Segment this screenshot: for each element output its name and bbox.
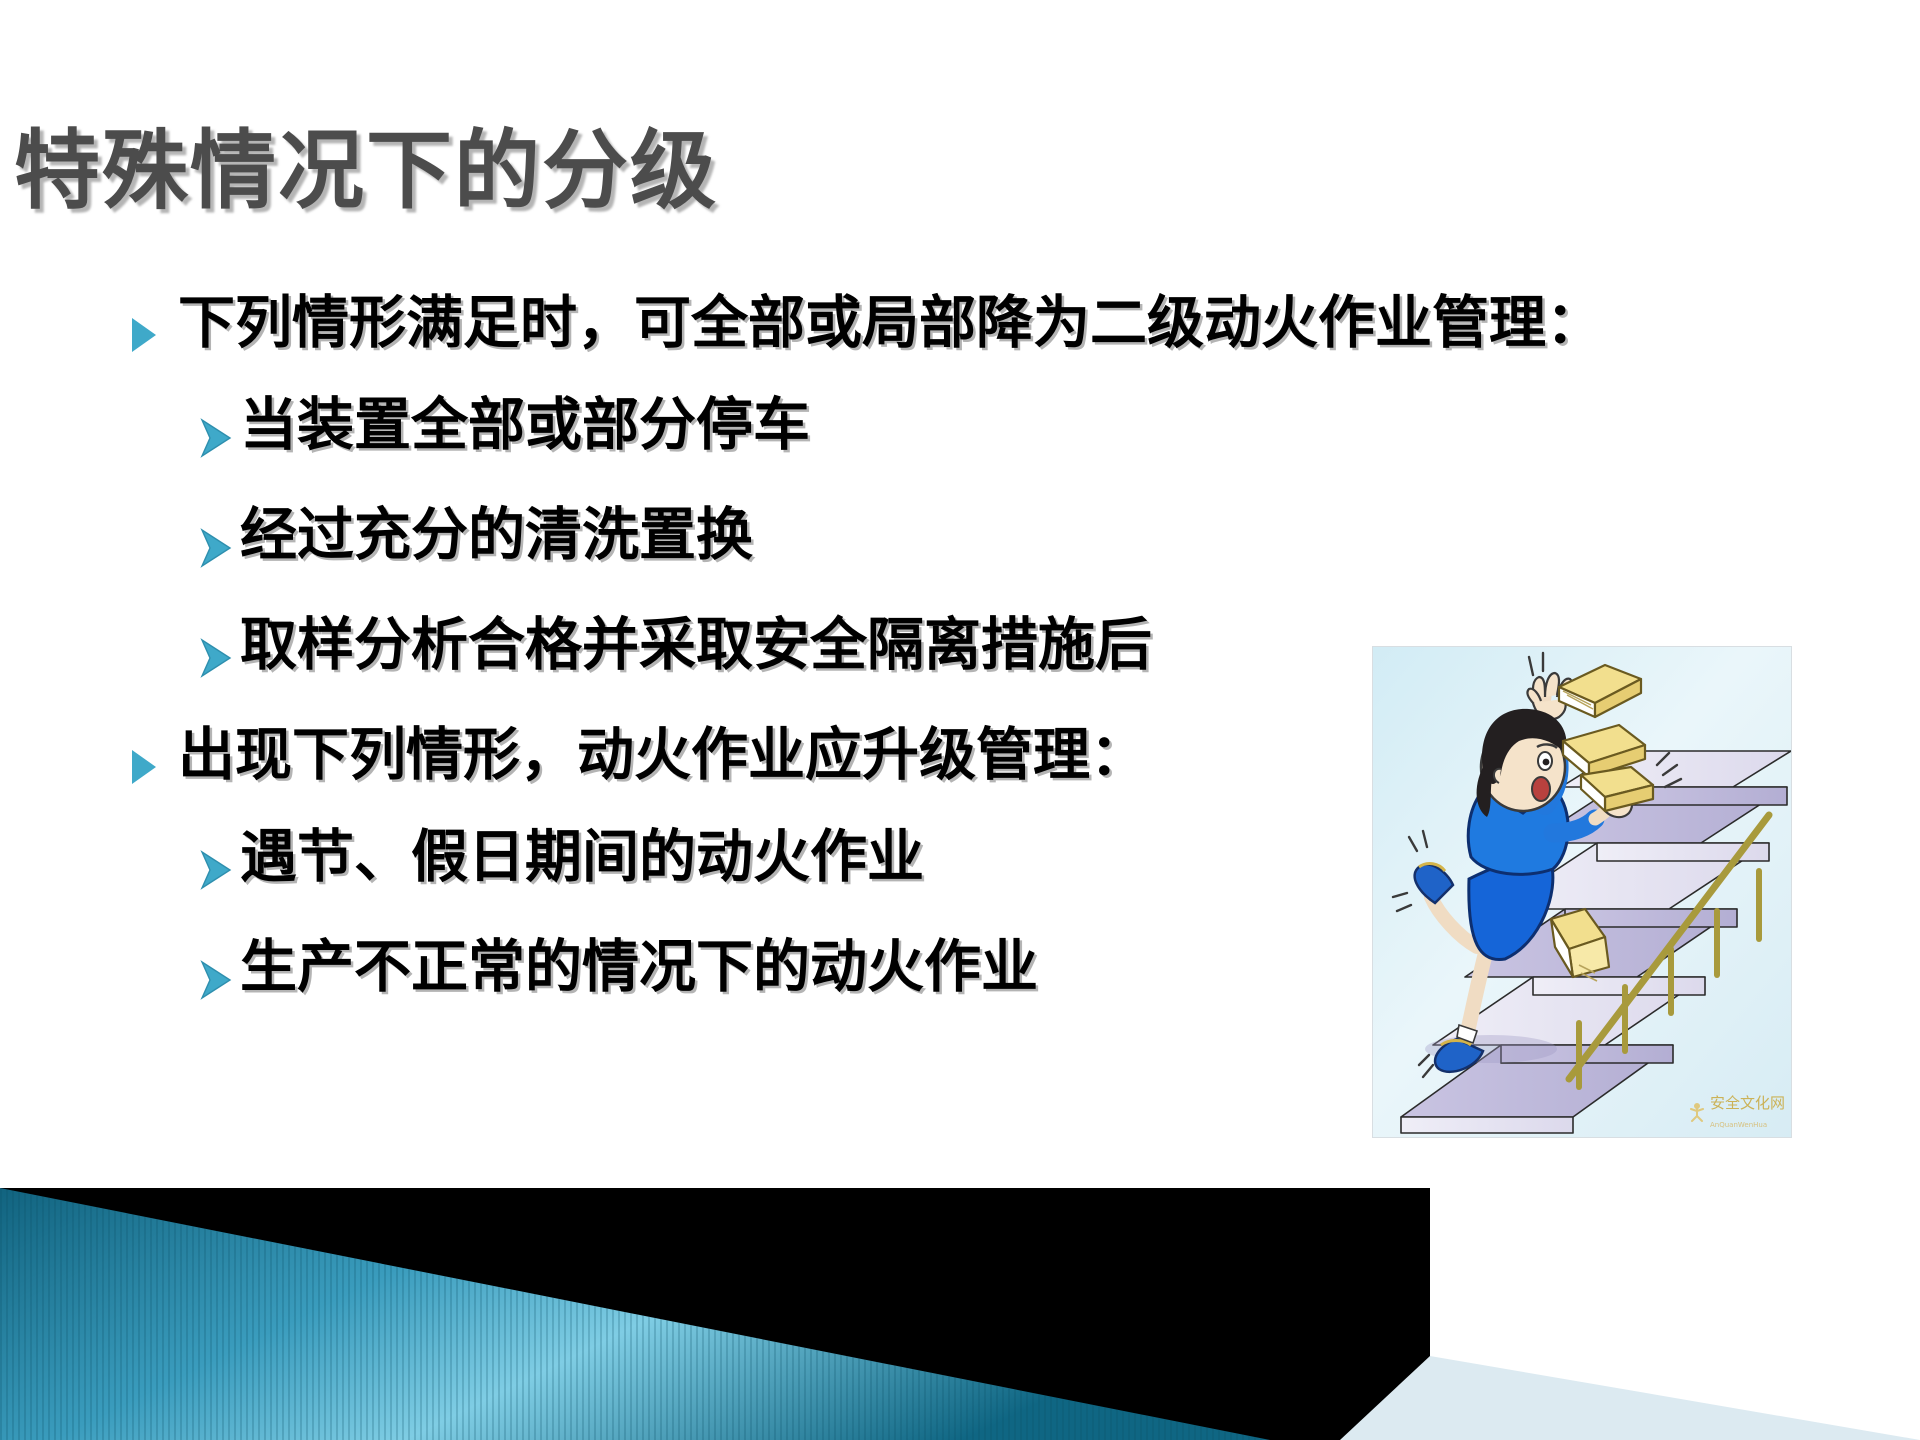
list-item: 经过充分的清洗置换 [0, 502, 1120, 602]
triangle-right-bullet-icon [128, 746, 158, 790]
list-item: 下列情形满足时，可全部或局部降为二级动火作业管理： [0, 290, 1120, 386]
list-item-label: 遇节、假日期间的动火作业 [240, 824, 924, 891]
list-item: 出现下列情形，动火作业应升级管理： [0, 722, 1120, 818]
list-item-label: 出现下列情形，动火作业应升级管理： [178, 722, 1147, 789]
watermark: 安全文化网 AnQuanWenHua [1688, 1092, 1785, 1131]
bottom-decoration [0, 1160, 1920, 1440]
slide-canvas: 特殊情况下的分级 下列情形满足时，可全部或局部降为二级动火作业管理： 当装置全部… [0, 0, 1920, 1440]
list-item-label: 当装置全部或部分停车 [240, 392, 810, 459]
list-item: 取样分析合格并采取安全隔离措施后 [0, 612, 1120, 712]
arrow-right-bullet-icon [196, 844, 236, 896]
list-item: 生产不正常的情况下的动火作业 [0, 934, 1120, 1034]
bullet-list: 下列情形满足时，可全部或局部降为二级动火作业管理： 当装置全部或部分停车 经过充… [0, 290, 1120, 1044]
person-logo-icon [1688, 1102, 1706, 1122]
triangle-right-bullet-icon [128, 314, 158, 358]
arrow-right-bullet-icon [196, 412, 236, 464]
arrow-right-bullet-icon [196, 522, 236, 574]
list-item-label: 生产不正常的情况下的动火作业 [240, 934, 1038, 1001]
watermark-sublabel: AnQuanWenHua [1710, 1121, 1767, 1129]
arrow-right-bullet-icon [196, 632, 236, 684]
list-item-label: 取样分析合格并采取安全隔离措施后 [240, 612, 1152, 679]
woman-falling-on-stairs-image: 安全文化网 AnQuanWenHua [1372, 646, 1792, 1138]
list-item-label: 经过充分的清洗置换 [240, 502, 753, 569]
watermark-label: 安全文化网 [1710, 1094, 1785, 1112]
list-item: 当装置全部或部分停车 [0, 392, 1120, 492]
arrow-right-bullet-icon [196, 954, 236, 1006]
list-item: 遇节、假日期间的动火作业 [0, 824, 1120, 924]
list-item-label: 下列情形满足时，可全部或局部降为二级动火作业管理： [178, 290, 1603, 357]
page-title: 特殊情况下的分级 [14, 128, 718, 214]
